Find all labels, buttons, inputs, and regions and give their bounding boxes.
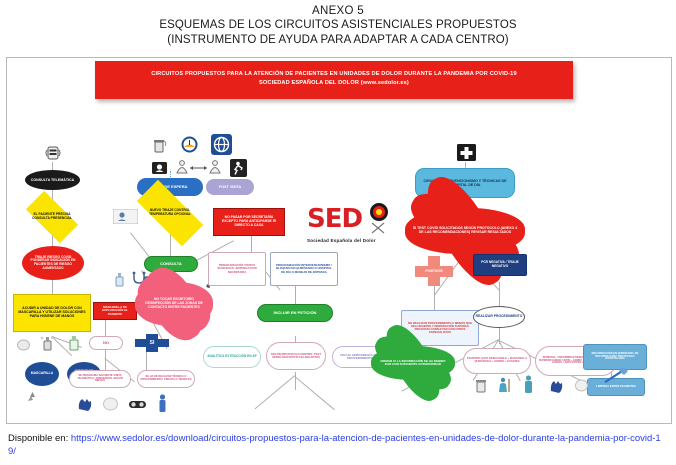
mask-round-icon bbox=[573, 378, 589, 392]
clock-alert-icon bbox=[179, 134, 199, 154]
distance-chairs-icon bbox=[173, 159, 225, 177]
sed-logo: SED Sociedad Española del Dolor bbox=[307, 206, 399, 252]
screenshot-root: ANEXO 5 ESQUEMAS DE LOS CIRCUITOS ASISTE… bbox=[0, 0, 676, 465]
cleaning-person-icon bbox=[496, 376, 512, 394]
title-line-3: (INSTRUMENTO DE AYUDA PARA ADAPTAR A CAD… bbox=[0, 33, 676, 48]
node-si[interactable]: SI bbox=[135, 334, 169, 352]
gown-blue-icon bbox=[521, 374, 535, 394]
node-nuevo-triaje[interactable]: NUEVO TRIAJE CONTROL TEMPERATURA OPCIONA… bbox=[138, 198, 202, 228]
node-no-detail[interactable]: SE PROGRAMA SIGUIENTE VISITA TELEMÁTICA … bbox=[69, 370, 131, 388]
hospital-cross-icon bbox=[455, 142, 477, 162]
title-line-2: ESQUEMAS DE LOS CIRCUITOS ASISTENCIALES … bbox=[0, 18, 676, 33]
hand-sanitizer-icon bbox=[65, 334, 81, 352]
logo-cross-icon bbox=[371, 222, 385, 234]
connector bbox=[294, 376, 334, 410]
node-no-tocar-escritorio[interactable]: NO TOCAR ESCRITORIO DESINFECCIÓN DE LAS … bbox=[135, 282, 213, 326]
pen-blue-icon bbox=[603, 366, 630, 385]
node-no-pasar-secretaria[interactable]: NO PASAR POR SECRETARÍA EXCEPTO PARA ANT… bbox=[213, 208, 285, 236]
goggles-icon bbox=[127, 398, 147, 410]
node-firmar-ci[interactable]: FIRMAR CI LA INFORMACIÓN SE HA DEBIDO DA… bbox=[371, 346, 455, 380]
banner-line-1: CIRCUITOS PROPUESTOS PARA LA ATENCIÓN DE… bbox=[95, 61, 573, 79]
connector bbox=[295, 286, 296, 304]
soap-dispenser-icon bbox=[39, 334, 55, 352]
node-incluir-peticion[interactable]: INCLUIR EN PETICIÓN bbox=[257, 304, 333, 322]
node-decision-presencial[interactable]: EL PACIENTE PRECISA CONSULTA PRESENCIAL bbox=[28, 204, 76, 230]
connector bbox=[295, 372, 296, 390]
logo-subtitle: Sociedad Española del Dolor bbox=[307, 238, 399, 243]
footer-label: Disponible en: bbox=[8, 433, 68, 444]
gown-icon bbox=[155, 393, 169, 413]
badge-id-icon bbox=[150, 158, 168, 176]
title-line-1: ANEXO 5 bbox=[0, 4, 676, 18]
trash-bin-icon bbox=[473, 376, 488, 394]
banner-line-2: SOCIEDAD ESPAÑOLA DEL DOLOR (www.sedolor… bbox=[95, 79, 573, 88]
logo-target-icon bbox=[369, 202, 389, 222]
gloves-blue-icon bbox=[547, 376, 563, 394]
banner: CIRCUITOS PROPUESTOS PARA LA ATENCIÓN DE… bbox=[95, 61, 573, 99]
node-analitica[interactable]: ANALÍTICA EXTRACCIÓN EN AP bbox=[203, 346, 261, 368]
node-si-detail[interactable]: SE HA DE REALIZAR TÉCNICA O PROCEDIMIENT… bbox=[137, 370, 195, 388]
node-programacion-intervencionismo[interactable]: PROGRAMACIÓN INTERVENCIONISMO / BLOQUEO … bbox=[270, 252, 338, 286]
node-pcr-negativa[interactable]: PCR NEGATIVA / TRIAJE NEGATIVO bbox=[473, 254, 527, 276]
mask-white-icon bbox=[15, 336, 31, 352]
trash-icon bbox=[150, 136, 168, 154]
node-realizar-procedimiento[interactable]: REALIZAR PROCEDIMIENTO bbox=[473, 306, 525, 328]
node-protocolo-test[interactable]: SEGÚN PROTOCOLO CENTRO: TEST SEROLÓGICO/… bbox=[266, 342, 326, 370]
diagram-frame: CIRCUITOS PROPUESTOS PARA LA ATENCIÓN DE… bbox=[6, 57, 672, 424]
node-programacion-visitas[interactable]: PROGRAMACIÓN VISITAS SUCESIVAS: ENTREGA … bbox=[208, 252, 266, 286]
globe-icon bbox=[210, 133, 232, 155]
gloves-icon bbox=[75, 394, 93, 412]
node-mascarilla-exploracion[interactable]: MASCARILLA DE EXPLORACIÓN AL PACIENTE bbox=[93, 302, 137, 320]
mask-icon bbox=[43, 144, 63, 162]
source-footer: Disponible en: https://www.sedolor.es/do… bbox=[8, 432, 668, 458]
node-mascarilla[interactable]: MASCARILLA bbox=[25, 362, 59, 386]
person-card-icon bbox=[112, 208, 138, 224]
page-title: ANEXO 5 ESQUEMAS DE LOS CIRCUITOS ASISTE… bbox=[0, 4, 676, 48]
logo-mark: SED bbox=[307, 204, 362, 234]
node-consulta-telematica[interactable]: CONSULTA TELEMÁTICA bbox=[25, 170, 80, 190]
node-no[interactable]: NO bbox=[89, 336, 123, 350]
connector bbox=[255, 375, 295, 409]
node-si-test-covid[interactable]: SI TEST COVID SOLICITADOS SEGÚN PROTOCOL… bbox=[405, 208, 525, 254]
recycle-icon bbox=[25, 390, 39, 404]
node-triaje-riesgo-covid[interactable]: TRIAJE RIESGO COVID PONDERAR INDICACIÓN … bbox=[22, 246, 84, 280]
walking-person-icon bbox=[229, 158, 247, 177]
sanitizer-icon bbox=[111, 270, 127, 288]
node-paciente-epi[interactable]: PACIENTE: BATA DESECHABLE + MASCARILLA Q… bbox=[463, 348, 531, 374]
node-acudir-unidad-dolor[interactable]: ACUDIR A UNIDAD DE DOLOR CON MASCARILLA … bbox=[13, 294, 91, 332]
source-link[interactable]: https://www.sedolor.es/download/circuito… bbox=[8, 433, 661, 457]
mask-white-icon bbox=[101, 395, 119, 411]
node-post-visita[interactable]: POST VISITA bbox=[206, 179, 254, 195]
node-positivos[interactable]: POSITIVOS bbox=[415, 256, 453, 286]
connector bbox=[251, 236, 252, 252]
